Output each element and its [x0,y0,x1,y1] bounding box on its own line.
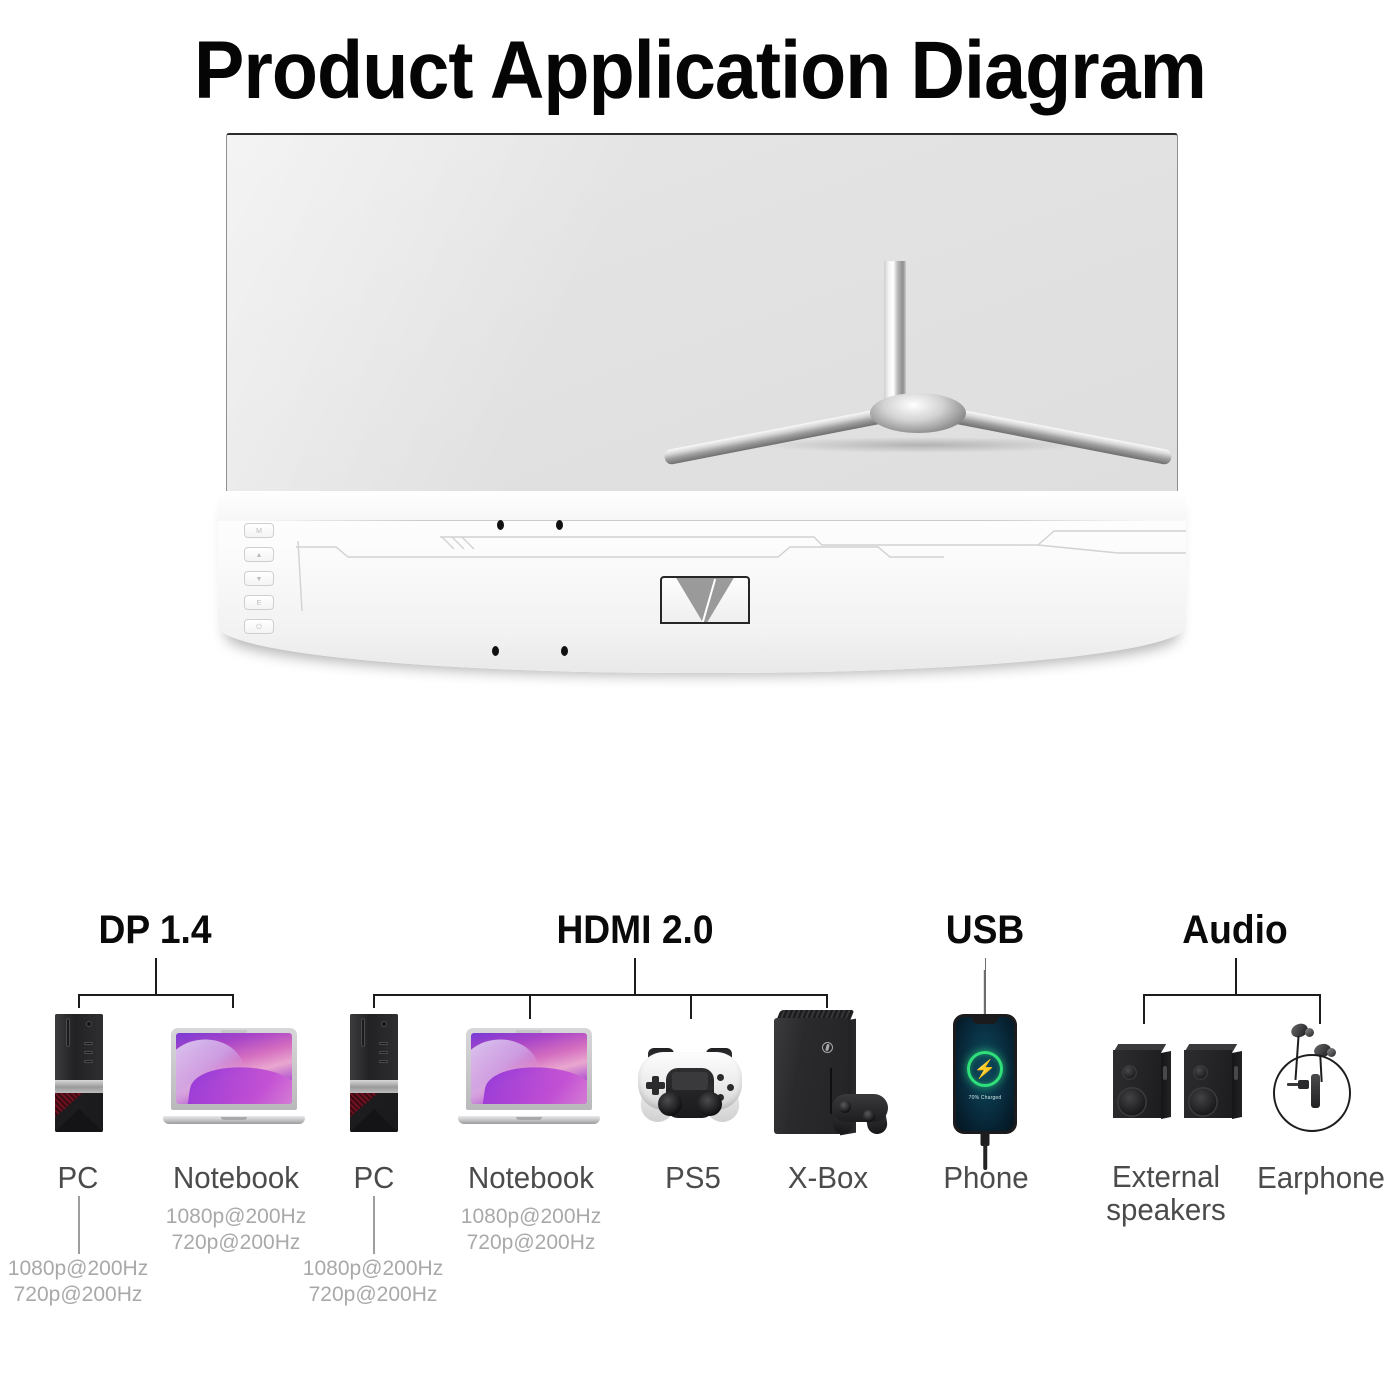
phone-body: ⚡ 70% Charged [953,1014,1017,1134]
ps5-stick-left [658,1092,682,1116]
pc-drive-slot [66,1018,70,1047]
device-label-dp-pc: PC [40,1160,116,1196]
pc-power-button [86,1021,92,1027]
device-label-audio-speakers: External speakers [1098,1160,1235,1227]
ps5-button-square [707,1084,714,1091]
resolution-hdmi-notebook: 1080p@200Hz 720p@200Hz [445,1204,617,1255]
pc-lower-bay [55,1093,103,1132]
pc-port-c [379,1060,388,1063]
pc-port-a [379,1042,388,1045]
stand-hub [870,393,966,433]
pc-silver-band [55,1080,103,1093]
speaker-side [1232,1051,1242,1119]
resolution-line-1: 1080p@200Hz [150,1204,322,1230]
speaker-icon-left [1113,1044,1169,1118]
vesa-dot-bottom-left [492,646,499,656]
speaker-tweeter [1193,1065,1208,1080]
bracket-hdmi-stem [634,958,636,995]
speaker-woofer [1117,1087,1147,1117]
ps5-body [638,1052,742,1110]
bracket-audio-drop-speakers [1143,994,1145,1024]
laptop-screen [176,1033,292,1104]
resolution-leader-hdmi-pc [373,1196,375,1254]
stand-shadow [758,437,1088,453]
smartphone-icon: ⚡ 70% Charged [953,1014,1017,1134]
resolution-dp-pc: 1080p@200Hz 720p@200Hz [0,1256,156,1307]
group-title-audio: Audio [1156,908,1314,953]
device-label-hdmi-ps5: PS5 [647,1160,738,1196]
resolution-dp-notebook: 1080p@200Hz 720p@200Hz [150,1204,322,1255]
xbox-stick-right [863,1110,875,1122]
bracket-dp-stem [155,958,157,995]
bracket-dp-rail [78,994,234,996]
pc-port-b [379,1051,388,1054]
lightning-bolt-icon: ⚡ [974,1060,996,1078]
pc-upper-bay [55,1014,103,1080]
bracket-audio-stem [1235,958,1237,995]
ps5-button-triangle [717,1074,724,1081]
ps5-touchpad [672,1072,708,1090]
xbox-logo-icon [822,1042,833,1053]
ps5-stick-right [698,1092,722,1116]
bracket-dp-drop-notebook [232,994,234,1008]
charge-status-text: 70% Charged [956,1095,1014,1101]
vesa-dot-top-right [556,520,563,530]
resolution-hdmi-pc: 1080p@200Hz 720p@200Hz [295,1256,451,1307]
resolution-line-2: 720p@200Hz [295,1282,451,1308]
pc-upper-bay [350,1014,398,1080]
console-icon-xbox [766,1008,890,1140]
bracket-hdmi-drop-notebook [529,994,531,1019]
resolution-line-2: 720p@200Hz [0,1282,156,1308]
gamepad-icon-ps5 [638,1040,742,1124]
earphone-icon [1265,1018,1361,1136]
ps5-dpad-horizontal [646,1082,665,1089]
pc-tower-icon-hdmi [350,1014,398,1132]
laptop-icon-dp [163,1028,305,1124]
laptop-lid [466,1028,592,1110]
pc-port-b [84,1051,93,1054]
page-title: Product Application Diagram [56,24,1344,118]
device-label-usb-phone: Phone [921,1160,1050,1196]
bracket-hdmi-drop-xbox [826,994,828,1008]
monitor-illustration: M ▲ ▼ E ⏻ [218,133,1186,693]
laptop-lid [171,1028,297,1110]
resolution-line-2: 720p@200Hz [150,1230,322,1256]
xbox-controller [832,1088,888,1132]
laptop-notch [516,1117,542,1120]
audio-jack-icon [1287,1080,1309,1089]
phone-notch [972,1017,998,1024]
laptop-icon-hdmi [458,1028,600,1124]
diagram-canvas: Product Application Diagram M ▲ ▼ E ⏻ [0,0,1400,1400]
vesa-dot-top-left [497,520,504,530]
speaker-woofer [1188,1087,1218,1117]
pc-power-button [381,1021,387,1027]
resolution-leader-dp-pc [78,1196,80,1254]
phone-screen: ⚡ 70% Charged [956,1017,1014,1131]
earbud-tip-right [1327,1048,1336,1057]
vesa-dot-bottom-right [561,646,568,656]
resolution-line-2: 720p@200Hz [445,1230,617,1256]
bracket-audio-rail [1143,994,1321,996]
speaker-icon-right [1184,1044,1240,1118]
speaker-bass-port [1234,1066,1238,1080]
device-label-hdmi-notebook: Notebook [449,1160,612,1196]
speaker-side [1161,1051,1171,1119]
pc-lower-bay [350,1093,398,1132]
laptop-screen [471,1033,587,1104]
bracket-dp-drop-pc [78,994,80,1008]
laptop-notch [221,1117,247,1120]
device-label-hdmi-pc: PC [336,1160,412,1196]
device-label-dp-notebook: Notebook [154,1160,317,1196]
bracket-hdmi-rail [373,994,828,996]
ps5-button-circle [727,1084,734,1091]
device-label-hdmi-xbox: X-Box [767,1160,889,1196]
pc-drive-slot [361,1018,365,1047]
speaker-front [1184,1050,1232,1118]
jack-body [1298,1080,1309,1089]
bracket-hdmi-drop-pc [373,994,375,1008]
resolution-line-1: 1080p@200Hz [445,1204,617,1230]
pc-silver-band [350,1080,398,1093]
pc-tower-icon-dp [55,1014,103,1132]
bracket-hdmi-drop-ps5 [690,994,692,1019]
resolution-line-1: 1080p@200Hz [295,1256,451,1282]
speaker-tweeter [1122,1065,1137,1080]
resolution-line-1: 1080p@200Hz [0,1256,156,1282]
xbox-stick-left [839,1101,851,1113]
group-title-dp: DP 1.4 [85,908,225,953]
group-title-hdmi: HDMI 2.0 [486,908,784,953]
stand-mount-plate [660,576,750,624]
monitor-stand [638,261,1198,521]
speaker-bass-port [1163,1066,1167,1080]
speaker-front [1113,1050,1161,1118]
pc-port-a [84,1042,93,1045]
group-title-usb: USB [906,908,1064,953]
usb-cable-upper [984,970,986,1014]
device-label-audio-earphone: Earphone [1246,1160,1396,1196]
pc-port-c [84,1060,93,1063]
earbud-tip-left [1305,1028,1314,1037]
earphone-inline-remote [1311,1074,1320,1108]
stand-column [884,261,906,411]
